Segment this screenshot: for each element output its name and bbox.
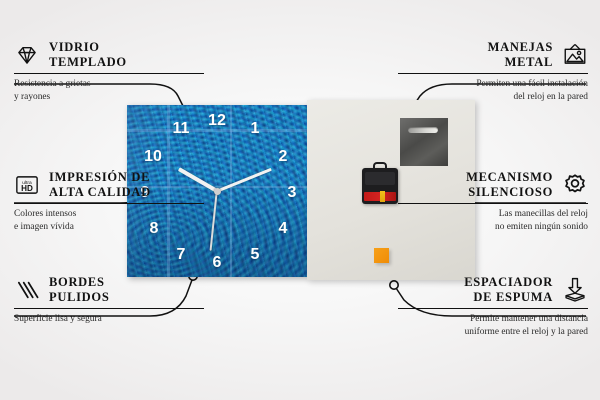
callout-rule: [14, 73, 204, 75]
clock-numeral: 4: [273, 221, 293, 237]
foam-spacer-icon: [562, 277, 588, 303]
mechanism-body: [365, 172, 395, 185]
ultra-hd-icon: ultra HD: [14, 172, 40, 198]
infographic-stage: 12 1 2 3 4 5 6 7 8 9 10 11: [0, 0, 600, 400]
clock-numeral: 10: [143, 149, 163, 165]
callout-rule: [398, 73, 588, 75]
callout-espaciador-espuma: ESPACIADOR DE ESPUMA Permite mantener un…: [398, 275, 588, 338]
clock-numeral: 2: [273, 149, 293, 165]
clock-numeral: 6: [207, 255, 227, 271]
callout-rule: [398, 203, 588, 205]
callout-title: MECANISMO SILENCIOSO: [398, 170, 553, 200]
picture-hanger-icon: [562, 42, 588, 68]
svg-text:HD: HD: [21, 184, 33, 193]
clock-numeral: 1: [245, 121, 265, 137]
clock-numeral: 12: [207, 113, 227, 129]
callout-desc: Permiten una fácil instalación del reloj…: [398, 78, 588, 103]
callout-title: VIDRIO TEMPLADO: [49, 40, 204, 70]
callout-manejas-metal: MANEJAS METAL Permiten una fácil instala…: [398, 40, 588, 103]
hanger-slot: [408, 127, 438, 133]
callout-title: BORDES PULIDOS: [49, 275, 204, 305]
callout-bordes-pulidos: BORDES PULIDOS Superficie lisa y segura: [14, 275, 204, 326]
callout-rule: [14, 308, 204, 310]
callout-mecanismo-silencioso: MECANISMO SILENCIOSO Las manecillas del …: [398, 170, 588, 233]
polished-edges-icon: [14, 277, 40, 303]
callout-desc: Colores intensos e imagen vívida: [14, 208, 204, 233]
clock-numeral: 11: [171, 121, 191, 137]
metal-hanger-plate: [400, 118, 448, 166]
clock-numeral: 7: [171, 247, 191, 263]
callout-title: IMPRESIÓN DE ALTA CALIDAD: [49, 170, 204, 200]
callout-desc: Las manecillas del reloj no emiten ningú…: [398, 208, 588, 233]
diamond-icon: [14, 42, 40, 68]
callout-vidrio-templado: VIDRIO TEMPLADO Resistencia a grietas y …: [14, 40, 204, 103]
clock-numeral: 3: [282, 185, 302, 201]
callout-desc: Resistencia a grietas y rayones: [14, 78, 204, 103]
callout-rule: [14, 203, 204, 205]
callout-desc: Permite mantener una distancia uniforme …: [398, 313, 588, 338]
callout-impresion-alta-calidad: ultra HD IMPRESIÓN DE ALTA CALIDAD Color…: [14, 170, 204, 233]
leader-dot-espaciador: [390, 281, 398, 289]
callout-rule: [398, 308, 588, 310]
callout-desc: Superficie lisa y segura: [14, 313, 204, 325]
mechanism-tab: [373, 162, 387, 170]
gear-icon: [562, 172, 588, 198]
clock-numeral: 5: [245, 247, 265, 263]
foam-spacer: [374, 248, 389, 263]
callout-title: MANEJAS METAL: [398, 40, 553, 70]
clock-hand-cap: [214, 188, 221, 195]
mechanism-stripe: [380, 191, 385, 202]
clock-mechanism: [362, 168, 398, 204]
callout-title: ESPACIADOR DE ESPUMA: [398, 275, 553, 305]
